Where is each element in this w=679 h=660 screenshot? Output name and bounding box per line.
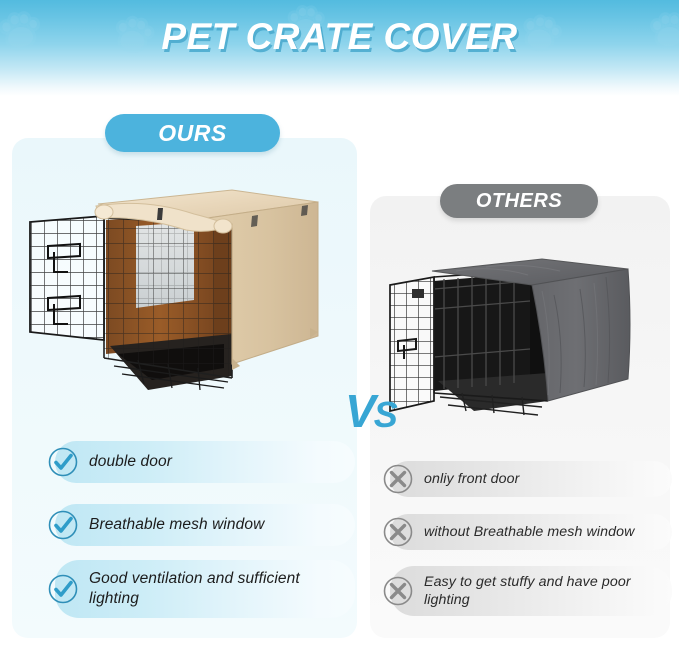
ours-feature-label: double door (89, 452, 172, 472)
ours-product-image (18, 168, 348, 403)
others-feature-item: onliy front door (390, 461, 672, 497)
x-circle-icon (381, 574, 415, 608)
vs-label: VS (345, 388, 396, 434)
check-circle-icon (46, 572, 80, 606)
ours-feature-label: Breathable mesh window (89, 515, 264, 535)
header-banner: PET CRATE COVER (0, 0, 679, 96)
others-feature-label: Easy to get stuffy and have poor lightin… (424, 573, 646, 609)
check-circle-icon (46, 508, 80, 542)
ours-badge-label: OURS (158, 120, 226, 147)
ours-feature-item: Good ventilation and sufficient lighting (55, 560, 355, 618)
ours-feature-item: Breathable mesh window (55, 504, 355, 546)
infographic-root: PET CRATE COVER (0, 0, 679, 660)
x-circle-icon (381, 515, 415, 549)
ours-feature-item: double door (55, 441, 355, 483)
ours-feature-label: Good ventilation and sufficient lighting (89, 569, 329, 609)
others-feature-label: without Breathable mesh window (424, 523, 634, 541)
vs-letter-s: S (374, 394, 396, 435)
others-product-image (382, 245, 664, 425)
others-badge: OTHERS (440, 184, 598, 218)
ours-badge: OURS (105, 114, 280, 152)
others-feature-item: without Breathable mesh window (390, 514, 672, 550)
others-feature-item: Easy to get stuffy and have poor lightin… (390, 566, 672, 616)
page-title: PET CRATE COVER (0, 16, 679, 58)
others-badge-label: OTHERS (476, 190, 562, 213)
vs-letter-v: V (345, 385, 374, 437)
others-feature-label: onliy front door (424, 470, 519, 488)
x-circle-icon (381, 462, 415, 496)
check-circle-icon (46, 445, 80, 479)
